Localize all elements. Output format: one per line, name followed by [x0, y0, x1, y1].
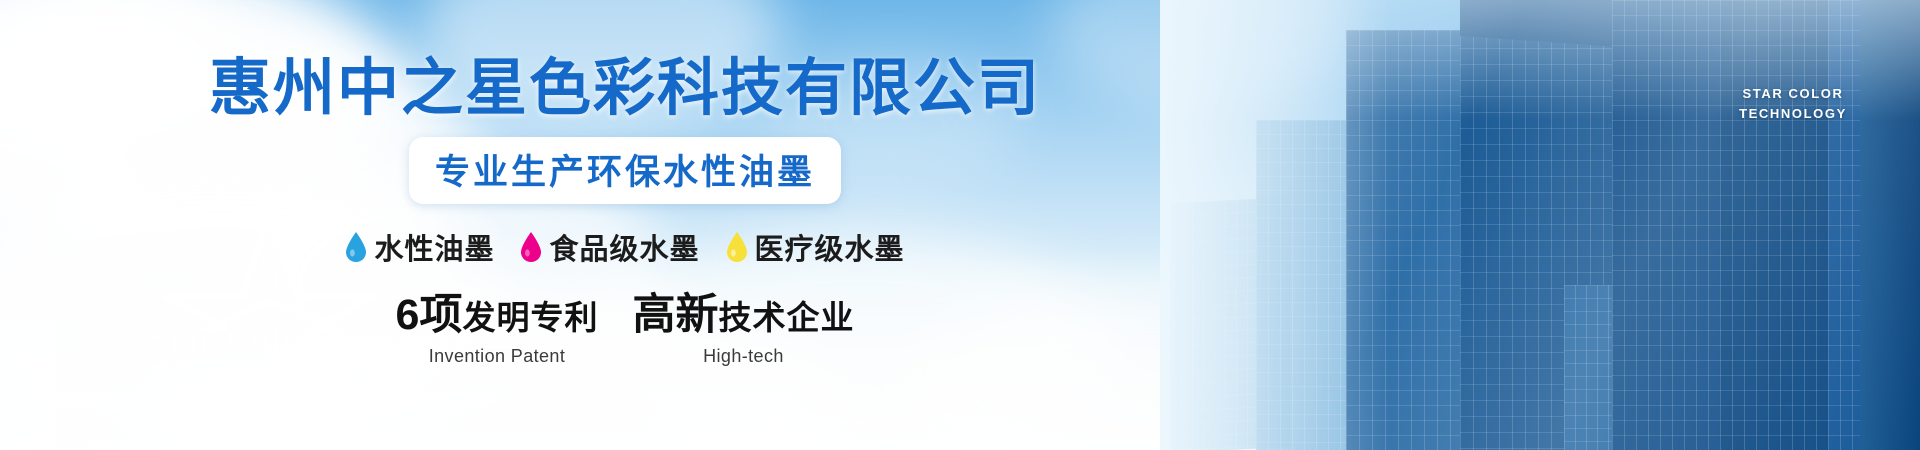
- feature-list: 水性油墨 食品级水墨 医疗级水墨: [345, 226, 904, 268]
- company-title: 惠州中之星色彩科技有限公司: [209, 58, 1041, 120]
- building-right-edge: [1860, 0, 1920, 450]
- water-drop-icon: [726, 232, 748, 262]
- badge-english-label: Invention Patent: [429, 346, 566, 367]
- badge-strong-text: 高新: [632, 291, 718, 339]
- feature-label: 医疗级水墨: [755, 226, 905, 268]
- badge-chinese-line: 6项发明专利: [396, 294, 599, 337]
- credential-badges: 6项发明专利 Invention Patent 高新技术企业 High-tech: [396, 294, 855, 367]
- badge-rest-text: 技术企业: [718, 299, 854, 336]
- building-right-2: [1720, 0, 1845, 450]
- feature-label: 食品级水墨: [549, 226, 699, 268]
- badge-invention-patent: 6项发明专利 Invention Patent: [396, 294, 599, 367]
- water-drop-icon: [520, 232, 542, 262]
- feature-item: 医疗级水墨: [726, 226, 905, 268]
- banner-content: 惠州中之星色彩科技有限公司 专业生产环保水性油墨 水性油墨 食品级水墨: [0, 0, 1250, 450]
- feature-label: 水性油墨: [374, 226, 494, 268]
- star-color-technology-logo: STAR COLOR TECHNOLOGY: [1728, 84, 1858, 124]
- water-drop-icon: [345, 232, 367, 262]
- subtitle-text: 专业生产环保水性油墨: [435, 153, 815, 192]
- feature-item: 食品级水墨: [520, 226, 699, 268]
- badge-english-label: High-tech: [703, 346, 784, 367]
- subtitle-pill: 专业生产环保水性油墨: [409, 137, 841, 204]
- badge-high-tech: 高新技术企业 High-tech: [632, 294, 854, 367]
- badge-chinese-line: 高新技术企业: [632, 294, 854, 337]
- badge-strong-text: 6项: [396, 291, 463, 339]
- logo-line-2: TECHNOLOGY: [1728, 104, 1858, 124]
- logo-line-1: STAR COLOR: [1728, 84, 1858, 104]
- hero-banner: Star Color STAR COLOR TECHNOLOGY 惠州中之星色彩…: [0, 0, 1920, 450]
- feature-item: 水性油墨: [345, 226, 494, 268]
- badge-rest-text: 发明专利: [462, 299, 598, 336]
- skyscrapers-image: [1160, 0, 1920, 450]
